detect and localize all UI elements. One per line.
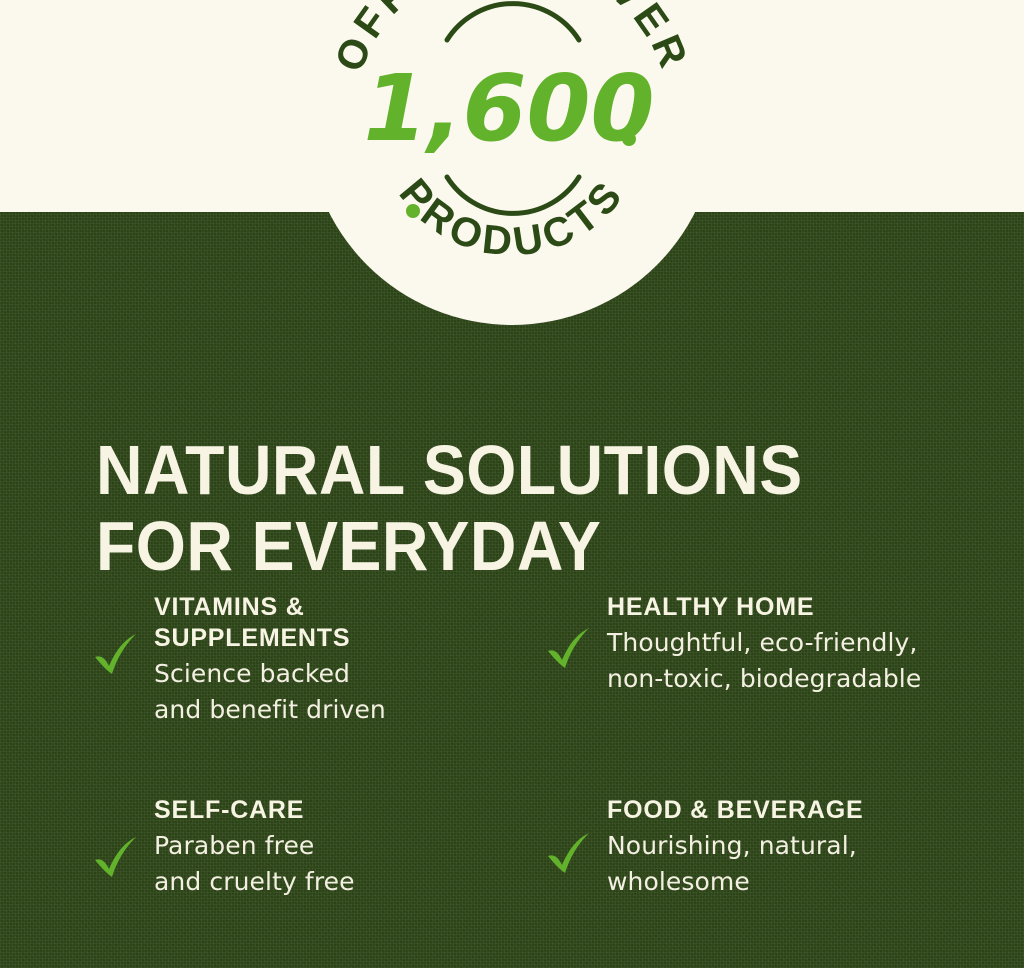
badge-dot-left <box>406 204 420 218</box>
headline-line-2: FOR EVERYDAY <box>96 508 906 584</box>
feature-text: SELF-CARE Paraben free and cruelty free <box>154 795 527 900</box>
check-icon <box>90 630 142 682</box>
feature-list: VITAMINS & SUPPLEMENTS Science backed an… <box>0 592 1024 952</box>
badge-number: 1,600 <box>363 55 654 162</box>
feature-description: Nourishing, natural, wholesome <box>607 828 1008 900</box>
headline-line-1: NATURAL SOLUTIONS <box>96 432 906 508</box>
offering-products-badge: OFFERING OVER PRODUCTS 1,600 <box>307 0 717 325</box>
feature-text: VITAMINS & SUPPLEMENTS Science backed an… <box>154 592 527 728</box>
feature-description: Paraben free and cruelty free <box>154 828 527 900</box>
badge-graphic: OFFERING OVER PRODUCTS 1,600 <box>307 0 717 325</box>
feature-item-vitamins-supplements: VITAMINS & SUPPLEMENTS Science backed an… <box>90 592 543 795</box>
check-icon <box>90 833 142 885</box>
badge-bottom-arc-label: PRODUCTS <box>391 170 634 265</box>
check-icon <box>543 829 595 881</box>
page-title: NATURAL SOLUTIONS FOR EVERYDAY <box>96 432 976 584</box>
feature-title: HEALTHY HOME <box>607 592 1008 623</box>
feature-description: Science backed and benefit driven <box>154 656 527 728</box>
badge-arc-top-decor <box>447 4 579 40</box>
feature-item-healthy-home: HEALTHY HOME Thoughtful, eco-friendly, n… <box>543 592 1024 795</box>
feature-title: SELF-CARE <box>154 795 527 826</box>
feature-title: FOOD & BEVERAGE <box>607 795 1008 826</box>
feature-description: Thoughtful, eco-friendly, non-toxic, bio… <box>607 625 1008 697</box>
feature-text: FOOD & BEVERAGE Nourishing, natural, who… <box>607 795 1008 900</box>
feature-text: HEALTHY HOME Thoughtful, eco-friendly, n… <box>607 592 1008 697</box>
check-icon <box>543 624 595 676</box>
feature-title: VITAMINS & SUPPLEMENTS <box>154 592 527 654</box>
feature-item-food-beverage: FOOD & BEVERAGE Nourishing, natural, who… <box>543 795 1024 952</box>
feature-item-self-care: SELF-CARE Paraben free and cruelty free <box>90 795 543 952</box>
promo-poster: OFFERING OVER PRODUCTS 1,600 NATURAL SOL… <box>0 0 1024 968</box>
